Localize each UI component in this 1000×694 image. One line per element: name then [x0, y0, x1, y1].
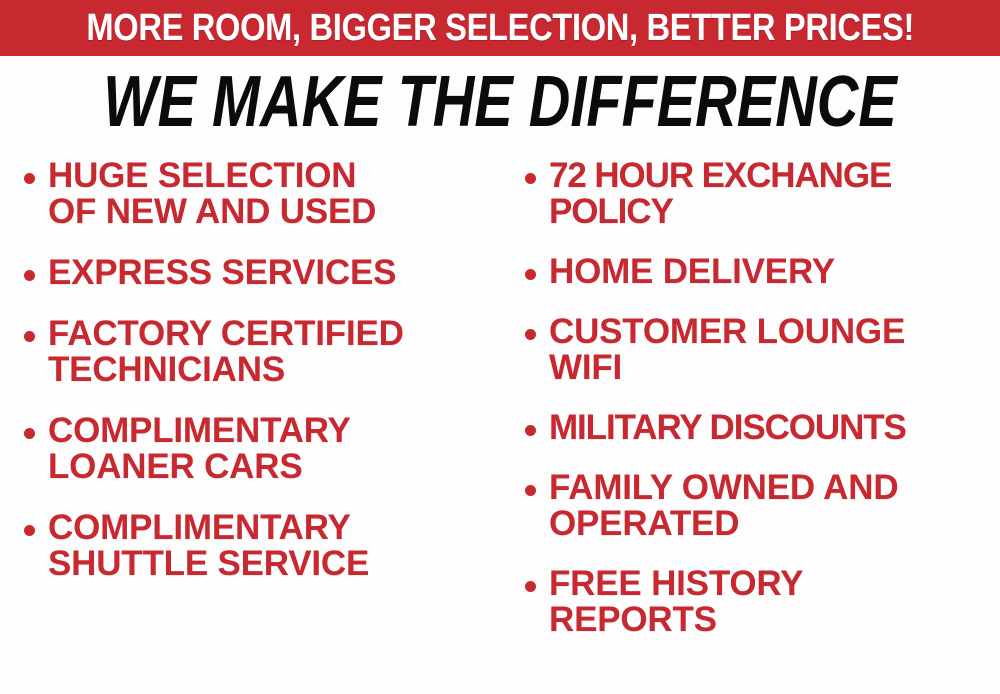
bullet-dot-icon — [525, 173, 536, 184]
benefit-label: FAMILY OWNED AND OPERATED — [549, 470, 898, 542]
bullet-dot-icon — [24, 173, 35, 184]
list-item: COMPLIMENTARY LOANER CARS — [24, 413, 496, 485]
bullet-dot-icon — [24, 270, 35, 281]
list-item: HOME DELIVERY — [525, 254, 998, 290]
benefit-label: MILITARY DISCOUNTS — [549, 410, 906, 446]
bullet-dot-icon — [24, 428, 35, 439]
benefit-label: COMPLIMENTARY LOANER CARS — [48, 413, 351, 485]
headline-container: WE MAKE THE DIFFERENCE — [0, 62, 1000, 142]
bullet-dot-icon — [525, 269, 536, 280]
top-banner: MORE ROOM, BIGGER SELECTION, BETTER PRIC… — [0, 0, 1000, 56]
benefit-label: COMPLIMENTARY SHUTTLE SERVICE — [48, 510, 369, 582]
bullet-dot-icon — [525, 425, 536, 436]
main-headline: WE MAKE THE DIFFERENCE — [103, 66, 897, 138]
benefits-columns: HUGE SELECTION OF NEW AND USED EXPRESS S… — [0, 158, 1000, 688]
benefit-label: FREE HISTORY REPORTS — [549, 566, 803, 638]
list-item: COMPLIMENTARY SHUTTLE SERVICE — [24, 510, 496, 582]
benefits-column-right: 72 HOUR EXCHANGE POLICY HOME DELIVERY CU… — [500, 158, 1000, 662]
bullet-dot-icon — [24, 331, 35, 342]
list-item: FACTORY CERTIFIED TECHNICIANS — [24, 316, 496, 388]
list-item: MILITARY DISCOUNTS — [525, 410, 998, 446]
bullet-dot-icon — [525, 485, 536, 496]
list-item: EXPRESS SERVICES — [24, 255, 496, 291]
benefit-label: HUGE SELECTION OF NEW AND USED — [48, 158, 376, 230]
list-item: 72 HOUR EXCHANGE POLICY — [525, 158, 998, 230]
list-item: HUGE SELECTION OF NEW AND USED — [24, 158, 496, 230]
benefit-label: EXPRESS SERVICES — [48, 255, 396, 291]
promotional-poster: MORE ROOM, BIGGER SELECTION, BETTER PRIC… — [0, 0, 1000, 694]
benefits-column-left: HUGE SELECTION OF NEW AND USED EXPRESS S… — [0, 158, 500, 607]
list-item: FAMILY OWNED AND OPERATED — [525, 470, 998, 542]
bullet-dot-icon — [24, 525, 35, 536]
benefit-label: HOME DELIVERY — [549, 254, 835, 290]
bullet-dot-icon — [525, 329, 536, 340]
banner-headline-text: MORE ROOM, BIGGER SELECTION, BETTER PRIC… — [86, 9, 914, 47]
benefit-label: 72 HOUR EXCHANGE POLICY — [549, 158, 891, 230]
list-item: FREE HISTORY REPORTS — [525, 566, 998, 638]
benefit-label: FACTORY CERTIFIED TECHNICIANS — [48, 316, 404, 388]
list-item: CUSTOMER LOUNGE WIFI — [525, 314, 998, 386]
bullet-dot-icon — [525, 581, 536, 592]
benefit-label: CUSTOMER LOUNGE WIFI — [549, 314, 905, 386]
